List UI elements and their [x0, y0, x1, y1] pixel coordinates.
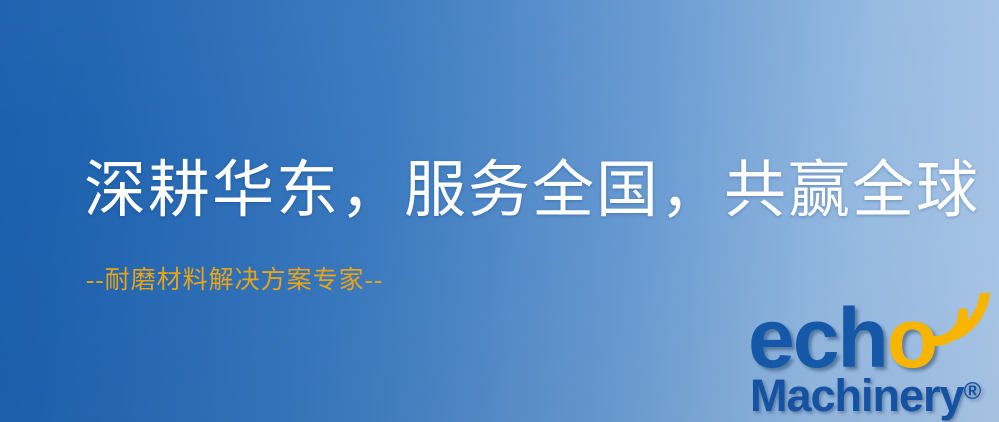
banner-subtitle: --耐磨材料解决方案专家-- — [86, 266, 383, 296]
registered-trademark-icon: ® — [964, 378, 982, 405]
echo-waves-icon — [931, 293, 999, 357]
banner-headline: 深耕华东，服务全国，共赢全球 — [84, 155, 980, 227]
hero-banner: 深耕华东，服务全国，共赢全球 --耐磨材料解决方案专家-- echo Machi… — [0, 0, 999, 422]
company-logo[interactable]: echo Machinery® — [748, 296, 999, 422]
logo-subtext: Machinery® — [750, 368, 981, 420]
logo-subtext-label: Machinery — [750, 370, 964, 421]
